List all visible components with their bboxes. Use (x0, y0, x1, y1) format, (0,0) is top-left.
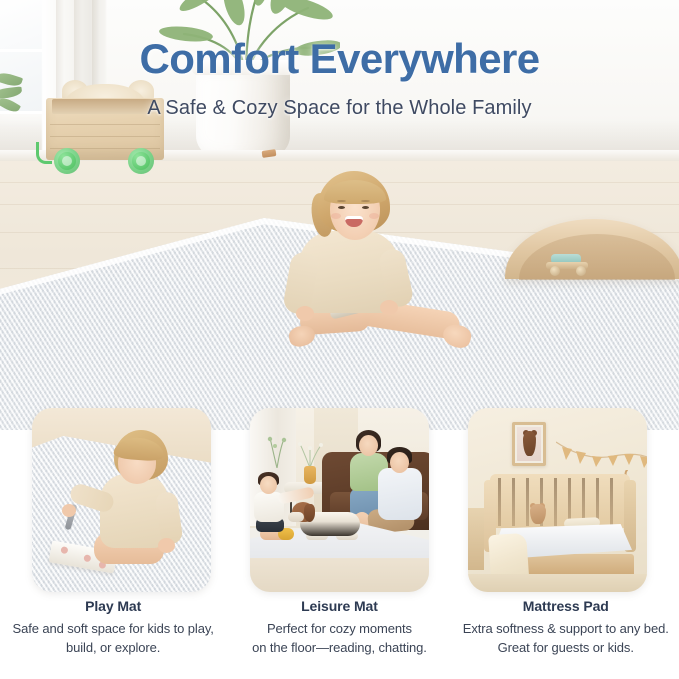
page-title: Comfort Everywhere (0, 38, 679, 80)
crib-slat (554, 478, 557, 526)
card2-mother-head (359, 435, 378, 456)
toddler-left-hand (296, 306, 314, 321)
caption-title-play-mat: Play Mat (4, 598, 222, 614)
card2-flower-stems (296, 442, 324, 468)
crib-slat (512, 478, 515, 526)
caption-row: Play Mat Safe and soft space for kids to… (0, 598, 679, 658)
caption-leisure-mat: Leisure Mat Perfect for cozy moments on … (226, 598, 452, 658)
card2-boy-head (260, 476, 277, 494)
page-subtitle: A Safe & Cozy Space for the Whole Family (0, 97, 679, 120)
caption-body-mattress-pad: Extra softness & support to any bed. Gre… (457, 620, 675, 658)
card3-floor (468, 574, 647, 592)
headline-block: Comfort Everywhere A Safe & Cozy Space f… (0, 38, 679, 120)
toddler-brow (361, 200, 370, 202)
card3-crib-slats (496, 478, 624, 526)
toddler-brow (337, 200, 346, 202)
crib-slat (498, 478, 501, 526)
cart-plank (50, 124, 160, 125)
card2-dog-ear (304, 504, 315, 522)
bear-icon (523, 431, 536, 456)
caption-play-mat: Play Mat Safe and soft space for kids to… (0, 598, 226, 658)
caption-title-mattress-pad: Mattress Pad (457, 598, 675, 614)
cart-wheel (128, 148, 154, 174)
card2-father-shirt (378, 468, 422, 520)
caption-mattress-pad: Mattress Pad Extra softness & support to… (453, 598, 679, 658)
card2-floor (250, 558, 429, 592)
product-feature-banner: Comfort Everywhere A Safe & Cozy Space f… (0, 0, 679, 679)
caption-line-1: Perfect for cozy moments (267, 621, 412, 636)
toddler-eye (362, 206, 369, 209)
card2-dog-snout (288, 512, 304, 522)
card2-plant (266, 434, 288, 468)
caption-title-leisure-mat: Leisure Mat (230, 598, 448, 614)
caption-body-leisure-mat: Perfect for cozy moments on the floor—re… (230, 620, 448, 658)
card3-teddy-bear (530, 504, 546, 524)
caption-line-1: Extra softness & support to any bed. (463, 621, 669, 636)
caption-line-2: build, or explore. (66, 640, 160, 655)
crib-slat (526, 478, 529, 526)
toddler-right-hand (380, 300, 398, 315)
card2-vase (304, 466, 316, 484)
caption-line-2: Great for guests or kids. (498, 640, 634, 655)
cart-wheel (54, 148, 80, 174)
feature-card-leisure-mat[interactable] (250, 408, 429, 592)
toddler-cheek (369, 213, 379, 219)
caption-line-1: Safe and soft space for kids to play, (13, 621, 214, 636)
card3-dresser (468, 508, 484, 570)
card2-father-head (390, 452, 409, 473)
toddler-eye (338, 206, 345, 209)
toy-car-wheel (576, 266, 586, 276)
caption-body-play-mat: Safe and soft space for kids to play, bu… (4, 620, 222, 658)
feature-card-mattress-pad[interactable] (468, 408, 647, 592)
toy-car-wheel (550, 266, 560, 276)
card1-child-left-hand (62, 504, 76, 517)
toddler-cheek (331, 213, 341, 219)
caption-line-2: on the floor—reading, chatting. (252, 640, 427, 655)
card1-child-right-hand (158, 538, 175, 553)
toy-peg (83, 554, 91, 562)
crib-slat (610, 478, 613, 526)
cart-plank (50, 136, 160, 137)
cart-pull-cord (36, 142, 52, 164)
toy-peg (60, 546, 68, 554)
feature-card-play-mat[interactable] (32, 408, 211, 592)
